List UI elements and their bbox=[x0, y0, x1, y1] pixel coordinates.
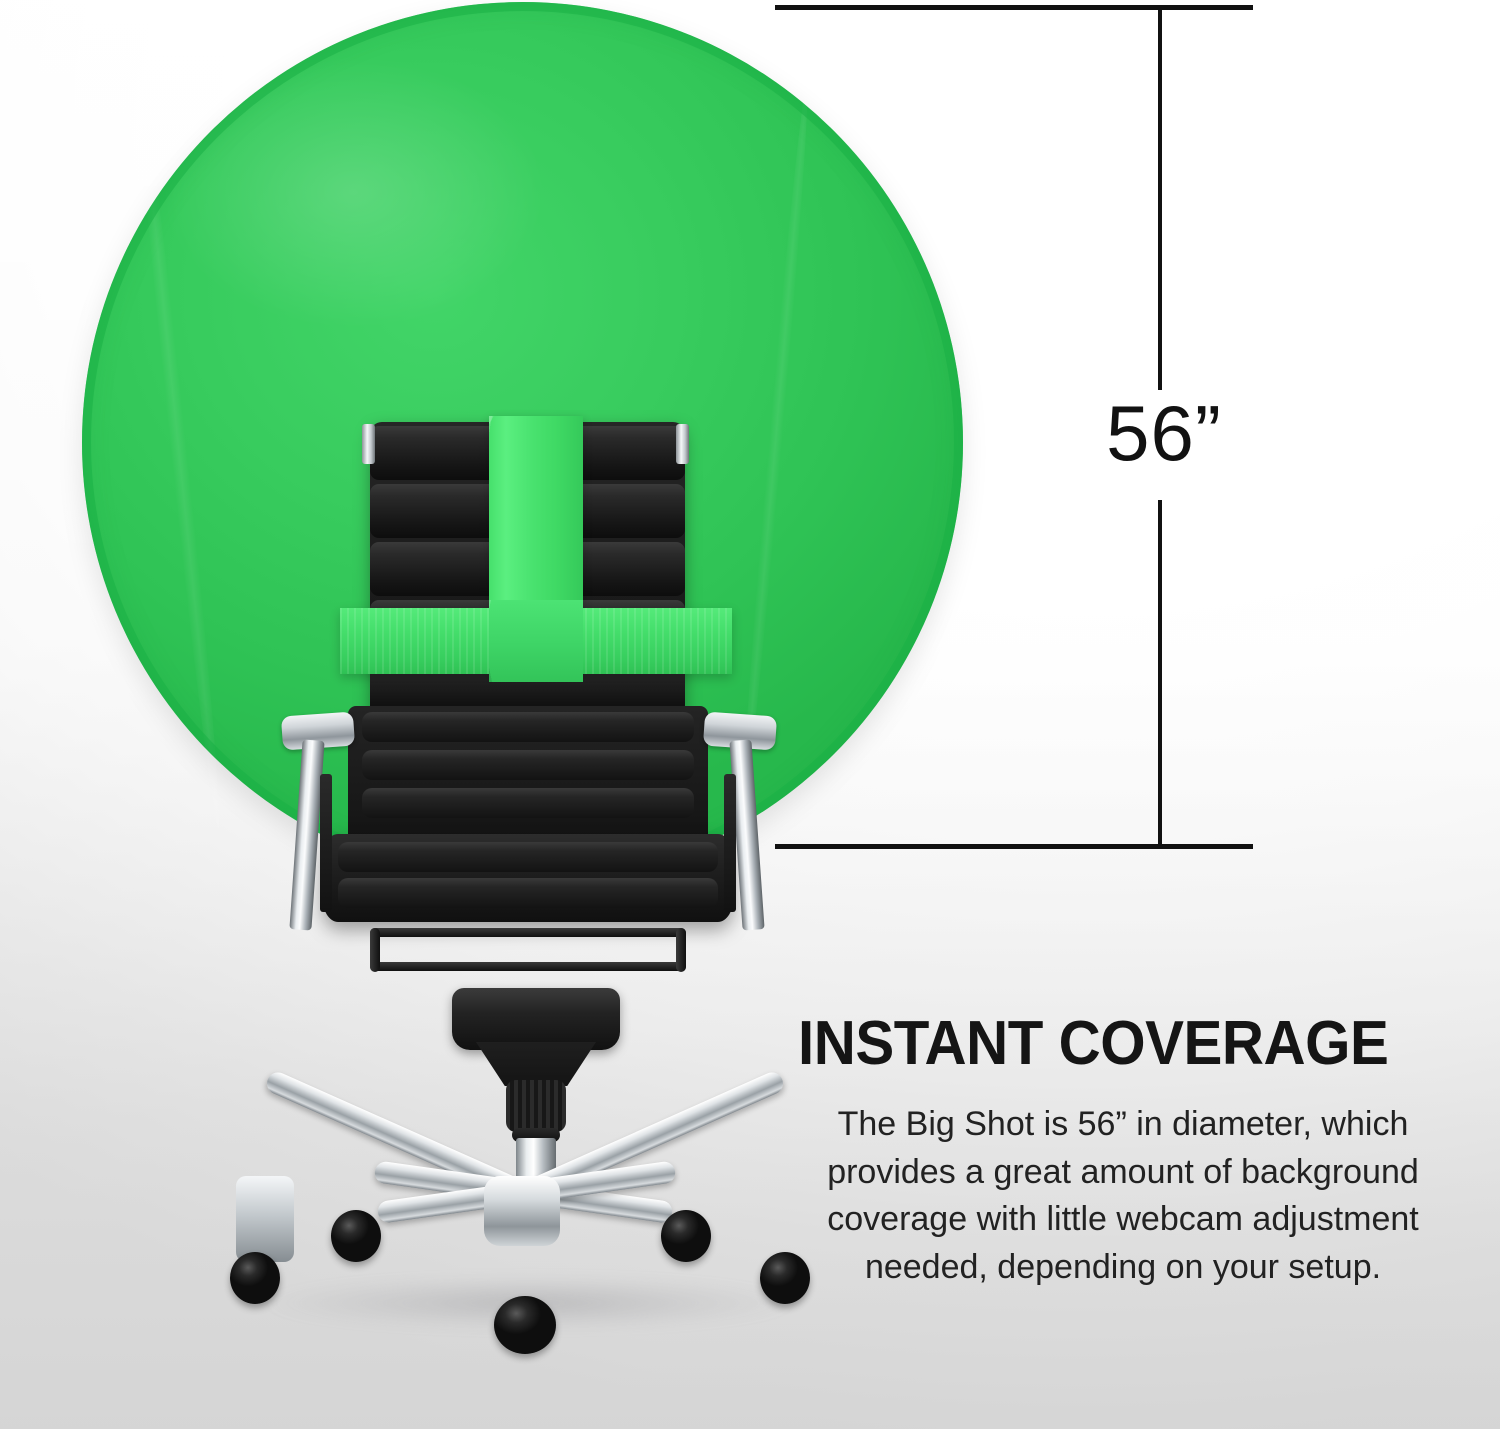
caster-wheel bbox=[661, 1210, 711, 1262]
seat-rib bbox=[362, 712, 693, 742]
rail-side-right bbox=[676, 928, 686, 972]
seat-rib bbox=[338, 878, 717, 908]
base-leg-center bbox=[236, 1176, 294, 1262]
copy-block: INSTANT COVERAGE The Big Shot is 56” in … bbox=[798, 1013, 1448, 1291]
rail-side-left bbox=[370, 928, 380, 972]
seat-frame-rail bbox=[370, 928, 686, 972]
armrest-bracket-right bbox=[724, 774, 736, 912]
rail-bar-top bbox=[370, 928, 686, 937]
armrest-bracket-left bbox=[320, 774, 332, 912]
body-copy: The Big Shot is 56” in diameter, which p… bbox=[798, 1101, 1448, 1291]
vertical-strap-lower bbox=[489, 600, 583, 682]
seat-rib bbox=[338, 842, 717, 872]
armrest-right bbox=[708, 714, 772, 928]
height-adjust-knob bbox=[506, 1080, 566, 1132]
rail-bar-bottom bbox=[370, 962, 686, 971]
product-feature-image: 56” INSTANT COVERAGE The Big Shot is 56”… bbox=[0, 0, 1500, 1429]
seat-cushion bbox=[322, 834, 734, 922]
caster-wheel bbox=[230, 1252, 280, 1304]
caster-wheel bbox=[331, 1210, 381, 1262]
backrest-clip-left bbox=[362, 424, 375, 464]
tilt-mechanism bbox=[452, 988, 620, 1050]
base-hub bbox=[484, 1176, 560, 1246]
chair-base bbox=[236, 1176, 808, 1296]
seat-rib bbox=[362, 788, 693, 818]
armrest-left bbox=[286, 714, 350, 928]
caster-wheel bbox=[494, 1296, 556, 1354]
chair-seat-group bbox=[322, 706, 734, 922]
seat-rib bbox=[362, 750, 693, 780]
backrest-clip-right bbox=[676, 424, 689, 464]
headline: INSTANT COVERAGE bbox=[798, 1013, 1409, 1075]
